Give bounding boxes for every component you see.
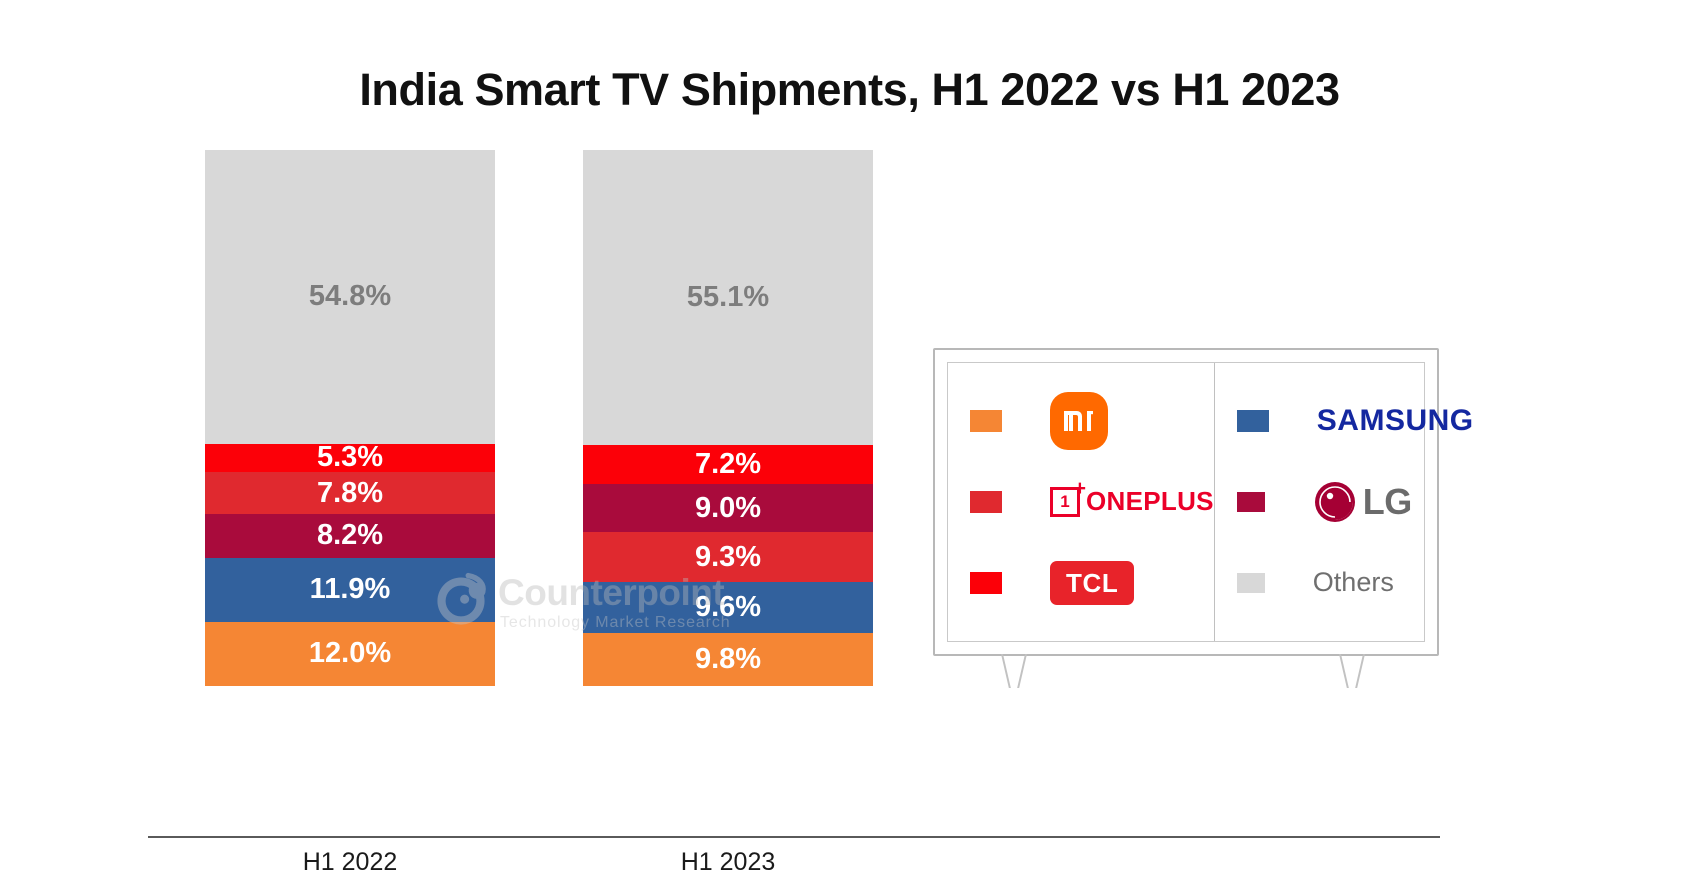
bar-segment-lg: 8.2%: [205, 514, 495, 558]
legend-item-samsung[interactable]: SAMSUNG: [1215, 390, 1474, 452]
bar-segment-label: 7.8%: [317, 479, 383, 508]
legend-item-xiaomi[interactable]: [948, 390, 1214, 452]
lg-logo: LG: [1313, 480, 1412, 524]
bar-segment-label: 9.8%: [695, 645, 761, 674]
bar-segment-tcl: 5.3%: [205, 444, 495, 472]
bar-segment-oneplus: 9.3%: [583, 532, 873, 582]
bar-segment-label: 8.2%: [317, 521, 383, 550]
bar-segment-label: 12.0%: [309, 639, 391, 668]
bar-segment-label: 9.0%: [695, 494, 761, 523]
legend-item-oneplus[interactable]: 1 + ONEPLUS: [948, 471, 1214, 533]
bar-segment-samsung: 11.9%: [205, 558, 495, 622]
stacked-bar-h1-2022: 54.8%5.3%7.8%8.2%11.9%12.0%: [205, 150, 495, 686]
legend-swatch-tcl: [970, 572, 1002, 594]
legend-column-left: 1 + ONEPLUS TCL: [948, 363, 1214, 641]
tv-legend-screen: 1 + ONEPLUS TCL S: [947, 362, 1425, 642]
plot-area: Counterpoint Technology Market Research …: [0, 150, 1000, 770]
others-label-wrap: Others: [1313, 567, 1394, 598]
samsung-wordmark: SAMSUNG: [1317, 404, 1474, 438]
mi-glyph-icon: [1062, 408, 1096, 434]
tcl-wordmark: TCL: [1050, 561, 1134, 605]
stacked-bar-h1-2023: 55.1%7.2%9.0%9.3%9.6%9.8%: [583, 150, 873, 686]
bar-segment-xiaomi: 9.8%: [583, 633, 873, 686]
oneplus-wordmark: ONEPLUS: [1086, 486, 1214, 517]
legend-swatch-samsung: [1237, 410, 1269, 432]
category-label-h1-2022: H1 2022: [205, 848, 495, 877]
samsung-logo: SAMSUNG: [1317, 404, 1474, 438]
xiaomi-logo: [1050, 392, 1108, 450]
oneplus-logo: 1 + ONEPLUS: [1050, 486, 1214, 517]
mi-icon: [1050, 392, 1108, 450]
tv-leg-right-a: [1339, 654, 1349, 688]
legend-column-right: SAMSUNG LG: [1214, 363, 1474, 641]
bar-segment-samsung: 9.6%: [583, 582, 873, 633]
tcl-logo: TCL: [1050, 561, 1134, 605]
legend-item-tcl[interactable]: TCL: [948, 552, 1214, 614]
oneplus-mark-digit: 1: [1060, 492, 1069, 512]
lg-wordmark: LG: [1363, 481, 1412, 523]
chart-page: India Smart TV Shipments, H1 2022 vs H1 …: [0, 0, 1699, 851]
legend-swatch-others: [1237, 573, 1265, 593]
bar-segment-label: 9.3%: [695, 543, 761, 572]
oneplus-plus-icon: +: [1074, 478, 1086, 499]
category-label-h1-2023: H1 2023: [583, 848, 873, 877]
bar-segment-label: 7.2%: [695, 450, 761, 479]
legend-swatch-lg: [1237, 492, 1265, 512]
legend-item-others[interactable]: Others: [1215, 552, 1474, 614]
bar-segment-others: 54.8%: [205, 150, 495, 444]
tv-leg-left-a: [1001, 654, 1011, 688]
bar-segment-oneplus: 7.8%: [205, 472, 495, 514]
tv-stand: [933, 654, 1439, 692]
bar-segment-label: 54.8%: [309, 282, 391, 311]
legend-item-lg[interactable]: LG: [1215, 471, 1474, 533]
tv-legend-frame: 1 + ONEPLUS TCL S: [933, 348, 1439, 656]
bar-segment-tcl: 7.2%: [583, 445, 873, 484]
bar-segment-label: 5.3%: [317, 443, 383, 472]
page-title: India Smart TV Shipments, H1 2022 vs H1 …: [0, 64, 1699, 116]
legend-swatch-oneplus: [970, 491, 1002, 513]
oneplus-mark-icon: 1 +: [1050, 487, 1080, 517]
lg-face-icon: [1313, 480, 1357, 524]
bar-segment-others: 55.1%: [583, 150, 873, 445]
bar-segment-label: 11.9%: [310, 575, 391, 604]
bar-segment-label: 55.1%: [687, 283, 769, 312]
tv-leg-right-b: [1355, 654, 1365, 688]
bar-segment-xiaomi: 12.0%: [205, 622, 495, 686]
bar-segment-label: 9.6%: [695, 593, 761, 622]
others-label: Others: [1313, 567, 1394, 598]
tv-leg-left-b: [1017, 654, 1027, 688]
legend-swatch-xiaomi: [970, 410, 1002, 432]
bar-segment-lg: 9.0%: [583, 484, 873, 532]
axis-baseline: [148, 836, 1440, 838]
